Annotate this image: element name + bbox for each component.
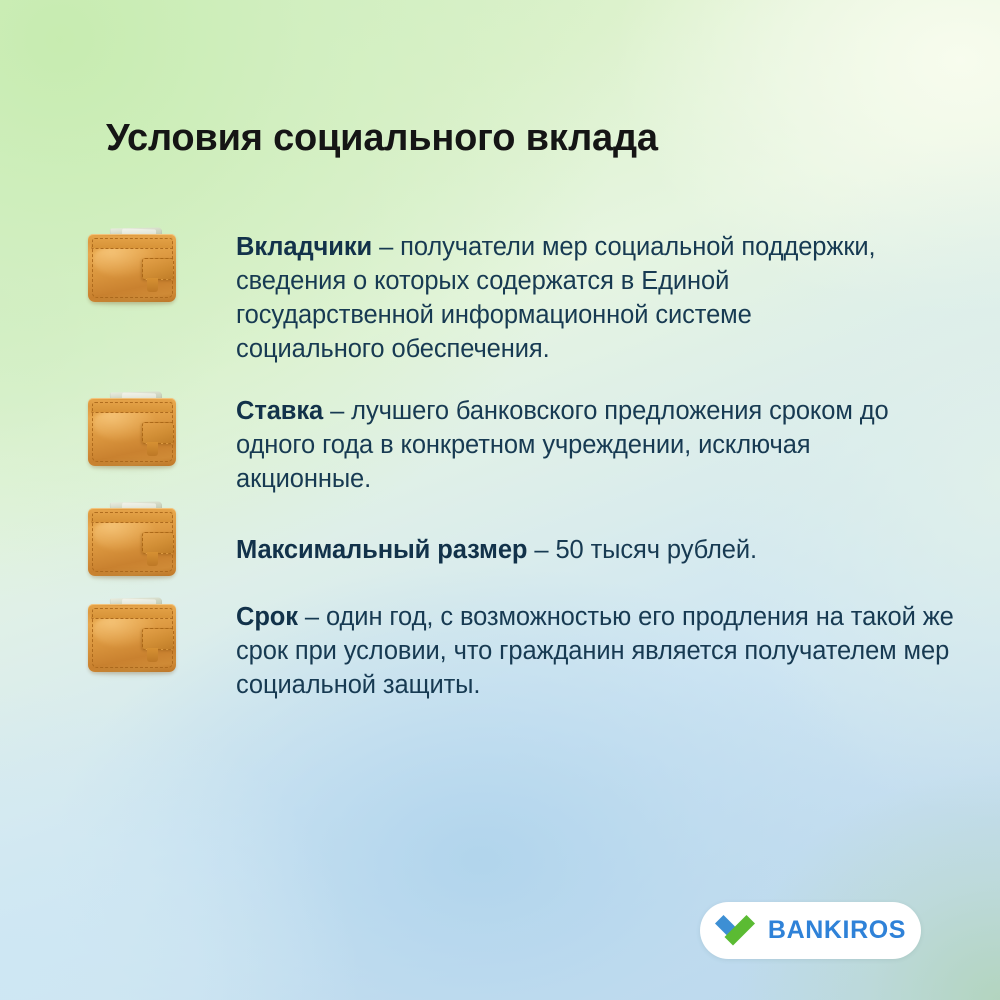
list-item-term: Ставка	[236, 397, 323, 425]
list-item-text: Ставка – лучшего банковского предложения…	[236, 394, 916, 496]
list-item-text: Максимальный размер – 50 тысяч рублей.	[236, 533, 936, 567]
bankiros-logo[interactable]: BANKIROS	[700, 902, 921, 959]
wallet-strap	[142, 422, 174, 444]
bankiros-wordmark: BANKIROS	[768, 918, 906, 943]
bankiros-checkmark-icon	[715, 915, 755, 947]
wallet-strap	[142, 258, 174, 280]
wallet-shadow	[94, 669, 170, 675]
list-item-dash: –	[298, 603, 326, 631]
list-item-term: Вкладчики	[236, 233, 372, 261]
list-item-text: Срок – один год, с возможностью его прод…	[236, 600, 976, 702]
wallet-shadow	[94, 573, 170, 579]
wallet-shadow	[94, 463, 170, 469]
wallet-strap	[142, 532, 174, 554]
infographic-canvas: Условия социального вклада Вкладчики – п…	[0, 0, 1000, 1000]
list-item-dash: –	[323, 397, 351, 425]
list-item-description: 50 тысяч рублей.	[555, 536, 757, 564]
wallet-icon	[88, 598, 176, 672]
list-item-text: Вкладчики – получатели мер социальной по…	[236, 230, 901, 366]
list-item-dash: –	[372, 233, 400, 261]
list-item-term: Максимальный размер	[236, 536, 527, 564]
wallet-icon	[88, 502, 176, 576]
wallet-strap-tail	[147, 442, 158, 456]
wallet-icon	[88, 392, 176, 466]
wallet-shadow	[94, 299, 170, 305]
wallet-strap-tail	[147, 552, 158, 566]
wallet-strap-tail	[147, 278, 158, 292]
wallet-strap	[142, 628, 174, 650]
list-item-description: один год, с возможностью его продления н…	[236, 603, 954, 699]
wallet-strap-tail	[147, 648, 158, 662]
page-title: Условия социального вклада	[106, 116, 906, 162]
wallet-icon	[88, 228, 176, 302]
list-item-term: Срок	[236, 603, 298, 631]
list-item-dash: –	[527, 536, 555, 564]
